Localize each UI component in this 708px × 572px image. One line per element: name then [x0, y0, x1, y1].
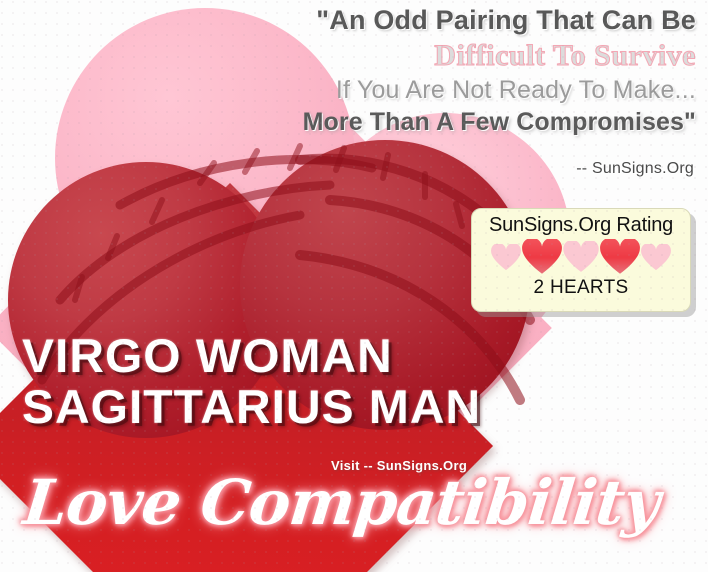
- rating-heart-5-empty: [641, 244, 671, 271]
- poster-canvas: "An Odd Pairing That Can Be Difficult To…: [0, 0, 708, 572]
- rating-heart-4-filled: [600, 239, 640, 275]
- rating-heart-2-filled: [522, 239, 562, 275]
- quote-line-3: If You Are Not Ready To Make...: [176, 75, 696, 106]
- quote-attribution: -- SunSigns.Org: [576, 160, 694, 178]
- quote-line-1: "An Odd Pairing That Can Be: [176, 4, 696, 37]
- title-line-woman: VIRGO WOMAN: [22, 330, 481, 381]
- rating-label: 2 HEARTS: [472, 277, 690, 299]
- visit-line: Visit -- SunSigns.Org: [331, 458, 467, 473]
- main-title-block: VIRGO WOMAN SAGITTARIUS MAN: [22, 330, 472, 432]
- rating-title: SunSigns.Org Rating: [472, 214, 690, 237]
- script-title: Love Compatibility: [20, 468, 662, 538]
- quote-line-4: More Than A Few Compromises": [176, 107, 696, 138]
- rating-hearts-row: [472, 238, 690, 276]
- rating-heart-3-empty: [563, 241, 599, 273]
- quote-block: "An Odd Pairing That Can Be Difficult To…: [176, 4, 696, 138]
- rating-box: SunSigns.Org Rating 2 HEARTS: [471, 208, 691, 312]
- title-line-man: SAGITTARIUS MAN: [22, 381, 481, 432]
- rating-heart-1-empty: [491, 244, 521, 271]
- quote-line-2: Difficult To Survive: [176, 38, 696, 73]
